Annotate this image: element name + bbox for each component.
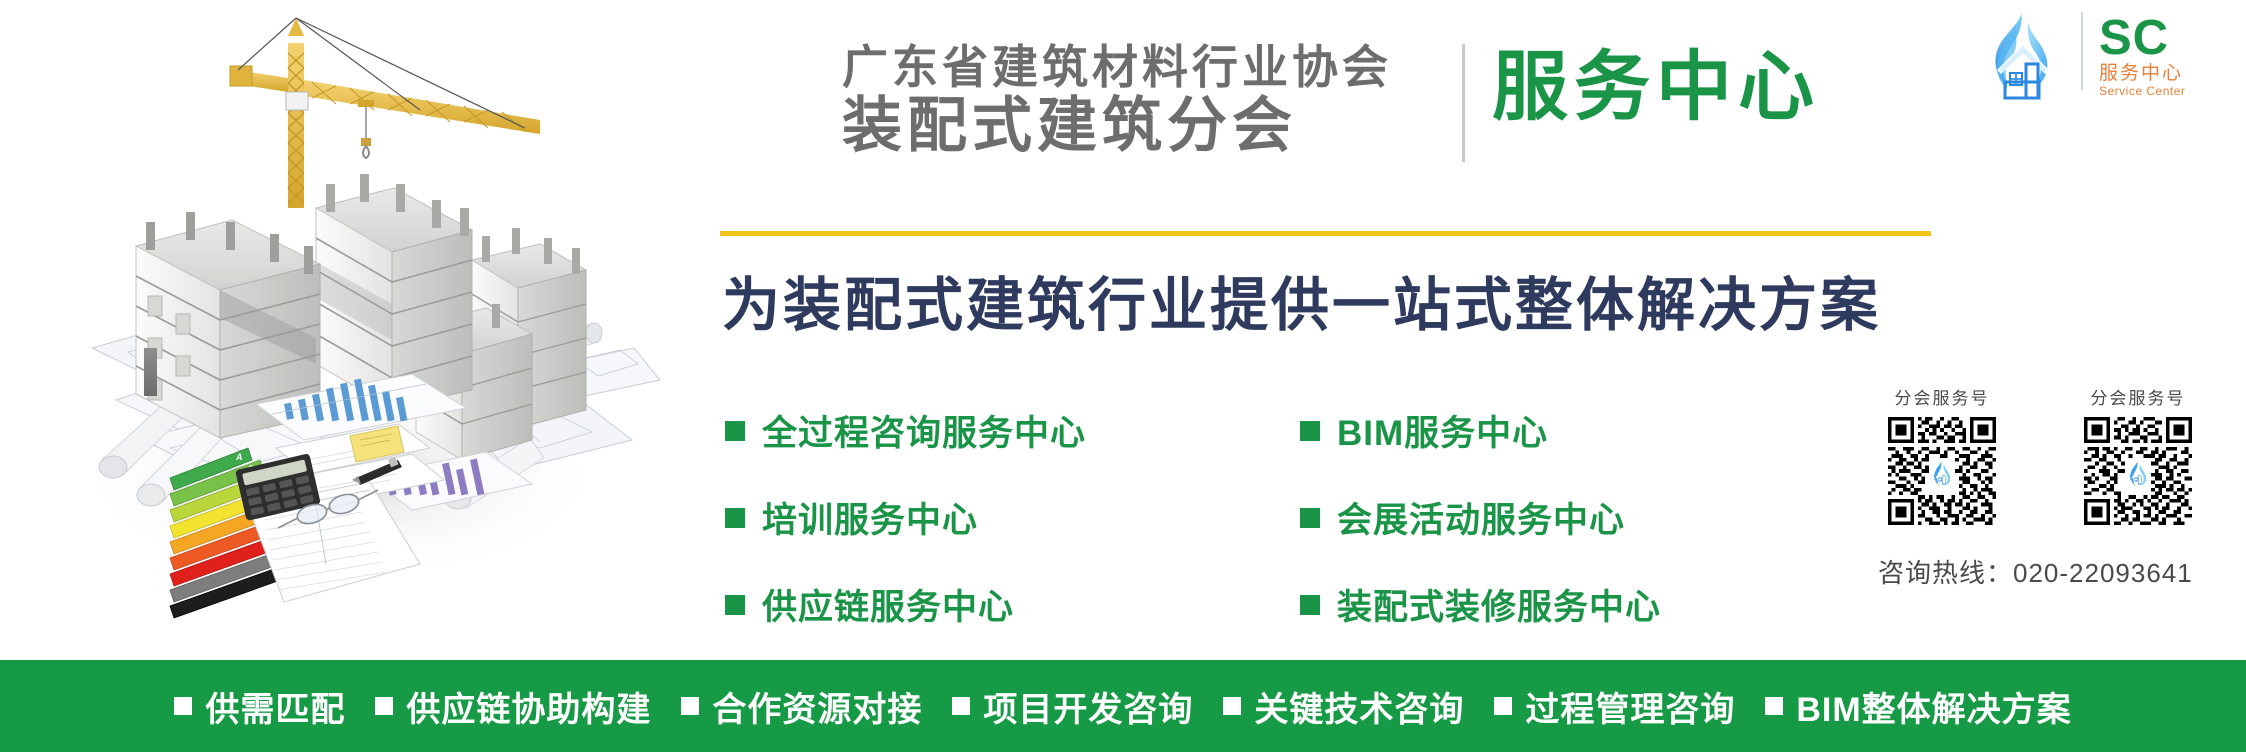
- footer-item-process-management[interactable]: 过程管理咨询: [1494, 682, 1735, 731]
- square-bullet-icon: [1223, 697, 1241, 715]
- square-bullet-icon: [174, 697, 192, 715]
- flame-house-icon: [1975, 8, 2071, 102]
- service-item-label: BIM服务中心: [1337, 405, 1548, 456]
- association-name-line1: 广东省建筑材料行业协会: [842, 44, 1472, 91]
- square-bullet-icon: [1494, 697, 1512, 715]
- service-item-label: 供应链服务中心: [762, 579, 1014, 630]
- association-title: 广东省建筑材料行业协会 装配式建筑分会: [842, 44, 1472, 156]
- qr-code-block-1: 分会服务号: [1862, 384, 2022, 525]
- square-bullet-icon: [1300, 421, 1320, 441]
- yellow-divider-rule: [720, 231, 1931, 236]
- service-item-supply-chain[interactable]: 供应链服务中心: [725, 579, 1300, 630]
- service-item-label: 装配式装修服务中心: [1337, 579, 1661, 630]
- qr-code-label: 分会服务号: [2058, 384, 2218, 409]
- footer-bar: 供需匹配 供应链协助构建 合作资源对接 项目开发咨询 关键技术咨询 过程管理咨询: [0, 660, 2246, 752]
- logo-chinese-text: 服务中心: [2099, 64, 2183, 83]
- footer-item-key-technology[interactable]: 关键技术咨询: [1223, 682, 1464, 731]
- service-item-label: 全过程咨询服务中心: [762, 405, 1086, 456]
- square-bullet-icon: [952, 697, 970, 715]
- logo-divider: [2081, 12, 2083, 90]
- square-bullet-icon: [1300, 508, 1320, 528]
- footer-item-partner-resources[interactable]: 合作资源对接: [681, 682, 922, 731]
- square-bullet-icon: [725, 421, 745, 441]
- footer-item-supply-chain-build[interactable]: 供应链协助构建: [375, 682, 651, 731]
- footer-item-label: 供应链协助构建: [406, 682, 651, 731]
- service-item-prefab-decoration[interactable]: 装配式装修服务中心: [1300, 579, 1785, 630]
- square-bullet-icon: [1300, 595, 1320, 615]
- construction-site-illustration: ABC DEF GHI: [20, 8, 660, 628]
- service-item-label: 培训服务中心: [762, 492, 978, 543]
- service-item-full-process-consulting[interactable]: 全过程咨询服务中心: [725, 405, 1300, 456]
- square-bullet-icon: [681, 697, 699, 715]
- service-center-heading: 服务中心: [1492, 48, 1820, 128]
- square-bullet-icon: [725, 508, 745, 528]
- qr-code-icon[interactable]: [1888, 417, 1996, 525]
- footer-item-project-development[interactable]: 项目开发咨询: [952, 682, 1193, 731]
- square-bullet-icon: [375, 697, 393, 715]
- footer-item-label: 合作资源对接: [712, 682, 922, 731]
- footer-item-label: 关键技术咨询: [1254, 682, 1464, 731]
- hotline-text: 咨询热线：020-22093641: [1878, 553, 2193, 590]
- footer-item-label: BIM整体解决方案: [1796, 682, 2071, 731]
- footer-item-label: 过程管理咨询: [1525, 682, 1735, 731]
- qr-code-block-2: 分会服务号: [2058, 384, 2218, 525]
- banner-root: ABC DEF GHI: [0, 0, 2246, 752]
- logo-english-text: Service Center: [2099, 85, 2185, 97]
- qr-code-section: 分会服务号: [1862, 384, 2222, 525]
- association-name-line2: 装配式建筑分会: [842, 95, 1472, 156]
- brand-logo[interactable]: SC 服务中心 Service Center: [1975, 8, 2185, 102]
- square-bullet-icon: [725, 595, 745, 615]
- svg-text:A: A: [235, 452, 243, 462]
- title-vertical-divider: [1462, 44, 1465, 162]
- logo-wordmark: SC 服务中心 Service Center: [2099, 8, 2185, 97]
- logo-sc-text: SC: [2099, 16, 2169, 61]
- service-item-exhibition[interactable]: 会展活动服务中心: [1300, 492, 1785, 543]
- service-item-training[interactable]: 培训服务中心: [725, 492, 1300, 543]
- service-center-list: 全过程咨询服务中心 BIM服务中心 培训服务中心 会展活动服务中心 供应链服务中…: [725, 405, 1785, 630]
- service-item-label: 会展活动服务中心: [1337, 492, 1625, 543]
- page-subtitle: 为装配式建筑行业提供一站式整体解决方案: [722, 258, 1881, 342]
- footer-item-bim-solution[interactable]: BIM整体解决方案: [1765, 682, 2071, 731]
- footer-item-supply-demand-match[interactable]: 供需匹配: [174, 682, 345, 731]
- footer-item-label: 项目开发咨询: [983, 682, 1193, 731]
- service-item-bim[interactable]: BIM服务中心: [1300, 405, 1785, 456]
- footer-item-label: 供需匹配: [205, 682, 345, 731]
- qr-code-label: 分会服务号: [1862, 384, 2022, 409]
- qr-code-icon[interactable]: [2084, 417, 2192, 525]
- square-bullet-icon: [1765, 697, 1783, 715]
